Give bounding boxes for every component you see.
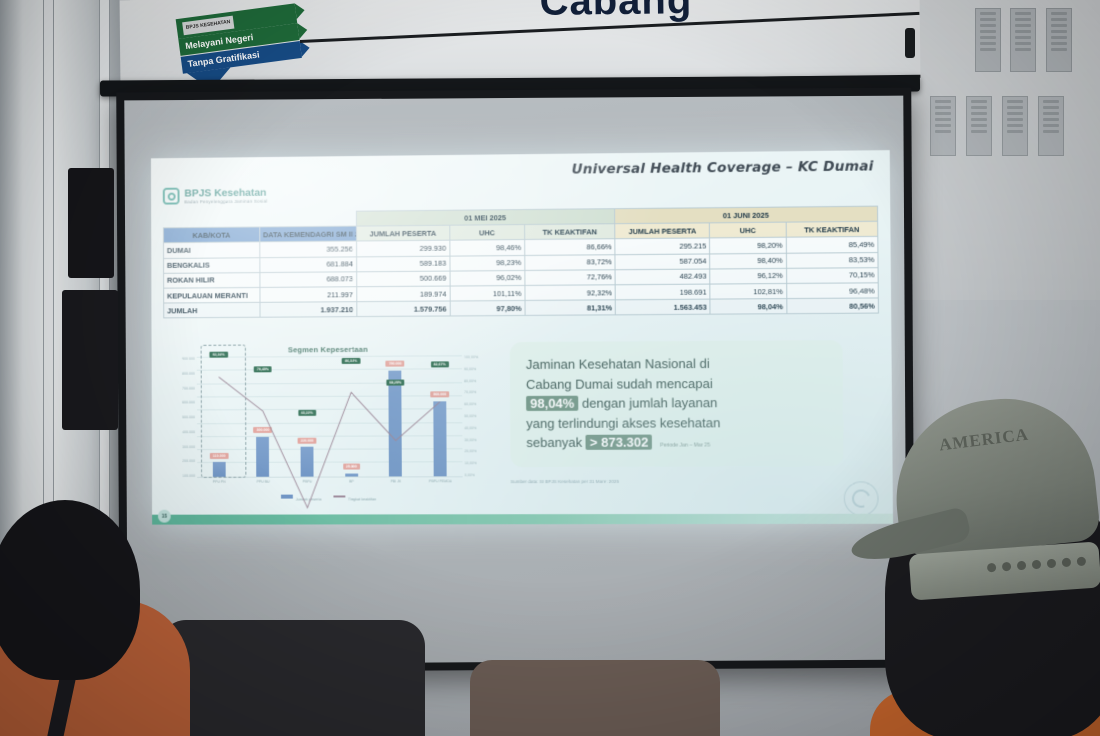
cell-juni-keaktifan: 85,49% bbox=[786, 237, 878, 253]
y-tick: 400.000 bbox=[182, 430, 195, 434]
y-tick: 500.000 bbox=[182, 415, 195, 419]
callout-line-5-wrap: sebanyak > 873.302 Periode Jan – Mar 25 bbox=[526, 432, 827, 457]
y-tick: 900.000 bbox=[182, 357, 195, 361]
cell-mei-keaktifan: 92,32% bbox=[525, 285, 616, 301]
blank-cell-1 bbox=[163, 212, 259, 228]
cell-kemendagri: 681.884 bbox=[260, 256, 357, 272]
cell-juni-peserta: 482.493 bbox=[615, 269, 710, 285]
col-header-mei-peserta: JUMLAH PESERTA bbox=[356, 225, 449, 241]
cell-kemendagri: 355.256 bbox=[260, 241, 357, 257]
cell-mei-keaktifan: 86,66% bbox=[525, 239, 616, 255]
callout-period-note: Periode Jan – Mar 25 bbox=[660, 442, 710, 448]
callout-highlight-percent: 98,04% bbox=[526, 396, 578, 411]
callout-line-1: Jaminan Kesehatan Nasional di bbox=[526, 353, 827, 374]
callout-line-2: Cabang Dumai sudah mencapai bbox=[526, 373, 827, 394]
y-tick-right: 90,00% bbox=[464, 367, 476, 371]
cell-mei-peserta: 1.579.756 bbox=[356, 301, 450, 317]
y-tick-right: 80,00% bbox=[464, 379, 476, 383]
bpjs-mark-icon bbox=[163, 188, 180, 205]
cell-kab-kota: DUMAI bbox=[163, 242, 259, 258]
line-value-label: 79,45% bbox=[254, 367, 272, 373]
cell-kab-kota: JUMLAH bbox=[164, 302, 260, 318]
chart-line-series bbox=[197, 355, 464, 623]
cell-mei-peserta: 189.974 bbox=[356, 286, 450, 302]
bpjs-logo-tagline: Badan Penyelenggara Jaminan Sosial bbox=[184, 198, 267, 204]
callout-highlight-count: > 873.302 bbox=[586, 435, 653, 450]
bpjs-logo: BPJS Kesehatan Badan Penyelenggara Jamin… bbox=[163, 187, 268, 205]
cell-mei-uhc: 98,23% bbox=[450, 255, 525, 271]
wall-vent-1 bbox=[975, 8, 1001, 72]
cell-mei-uhc: 101,11% bbox=[450, 285, 525, 301]
y-tick-right: 40,00% bbox=[464, 426, 476, 430]
line-value-label: 82,67% bbox=[431, 362, 449, 368]
cell-mei-peserta: 500.669 bbox=[356, 271, 449, 287]
cell-juni-peserta: 587.054 bbox=[615, 253, 710, 269]
cell-juni-peserta: 1.563.453 bbox=[616, 299, 711, 315]
uhc-table-body: DUMAI 355.256 299.930 98,46% 86,66% 295.… bbox=[163, 237, 878, 318]
wall-vent-2 bbox=[1010, 8, 1036, 72]
cell-juni-keaktifan: 80,56% bbox=[786, 298, 878, 314]
cell-juni-uhc: 98,40% bbox=[710, 253, 786, 269]
y-tick-right: 10,00% bbox=[465, 461, 477, 465]
slide-source-note: Sumber data: SI BPJS Kesehatan per 31 Ma… bbox=[511, 479, 619, 484]
slide-watermark-icon bbox=[844, 481, 879, 515]
cell-juni-peserta: 295.215 bbox=[615, 238, 710, 254]
col-header-kemendagri: DATA KEMENDAGRI SM II 2024 bbox=[260, 226, 357, 242]
cell-mei-peserta: 589.183 bbox=[356, 256, 449, 272]
banner-title: Cabang bbox=[539, 0, 692, 25]
blank-cell-2 bbox=[259, 211, 356, 227]
cell-kemendagri: 688.073 bbox=[260, 272, 357, 288]
photo-of-projected-slide: Cabang BPJS KESEHATAN Melayani Negeri Ta… bbox=[0, 0, 1100, 736]
y-tick: 200.000 bbox=[182, 459, 195, 463]
cell-kab-kota: BENGKALIS bbox=[164, 257, 260, 273]
cell-juni-keaktifan: 83,53% bbox=[786, 252, 878, 268]
y-tick: 700.000 bbox=[182, 386, 195, 390]
cell-juni-keaktifan: 96,48% bbox=[786, 283, 878, 299]
line-value-label: 86,34% bbox=[342, 358, 360, 364]
y-tick-right: 20,00% bbox=[464, 450, 476, 454]
col-header-kab-kota: KAB/KOTA bbox=[163, 227, 259, 243]
cell-juni-uhc: 96,12% bbox=[710, 268, 786, 284]
y-tick-right: 0,00% bbox=[465, 473, 475, 477]
window-mullion bbox=[44, 0, 53, 660]
cell-mei-uhc: 96,02% bbox=[450, 270, 525, 286]
wall-vent-3 bbox=[1046, 8, 1072, 72]
callout-line-3-wrap: 98,04% dengan jumlah layanan bbox=[526, 393, 827, 414]
cell-juni-uhc: 102,81% bbox=[710, 283, 786, 299]
presentation-slide: Universal Health Coverage – KC Dumai BPJ… bbox=[151, 150, 893, 525]
cell-juni-peserta: 198.691 bbox=[615, 284, 710, 300]
col-header-juni-keaktifan: TK KEAKTIFAN bbox=[786, 221, 878, 237]
chart-y-axis-right: 100,00% 90,00% 80,00% 70,00% 60,00% 50,0… bbox=[464, 355, 495, 477]
col-header-juni-peserta: JUMLAH PESERTA bbox=[615, 223, 710, 239]
y-tick-right: 70,00% bbox=[464, 391, 476, 395]
cell-mei-uhc: 98,46% bbox=[450, 240, 525, 256]
chart-y-axis-left: 900.000 800.000 700.000 600.000 500.000 … bbox=[165, 357, 195, 478]
cell-kemendagri: 211.997 bbox=[260, 287, 357, 303]
y-tick: 800.000 bbox=[182, 371, 195, 375]
line-value-label: 68,25% bbox=[386, 379, 404, 385]
callout-line-3: dengan jumlah layanan bbox=[582, 395, 718, 411]
event-backdrop-banner: Cabang BPJS KESEHATAN Melayani Negeri Ta… bbox=[120, 0, 921, 86]
wall-vent-7 bbox=[1038, 96, 1064, 156]
callout-line-4: yang terlindungi akses kesehatan bbox=[526, 412, 827, 433]
cell-mei-uhc: 97,80% bbox=[450, 301, 525, 317]
wall-vent-5 bbox=[966, 96, 992, 156]
cell-kab-kota: KEPULAUAN MERANTI bbox=[164, 287, 260, 303]
window-frame bbox=[0, 0, 130, 660]
y-tick-right: 100,00% bbox=[464, 355, 478, 359]
col-header-mei-keaktifan: TK KEAKTIFAN bbox=[525, 224, 616, 240]
projector-screen-surface: Universal Health Coverage – KC Dumai BPJ… bbox=[124, 96, 906, 665]
uhc-table-wrapper: 01 MEI 2025 01 JUNI 2025 KAB/KOTA DATA K… bbox=[163, 206, 879, 319]
uhc-table: 01 MEI 2025 01 JUNI 2025 KAB/KOTA DATA K… bbox=[163, 206, 879, 319]
col-header-juni-uhc: UHC bbox=[710, 222, 786, 238]
cell-kemendagri: 1.937.210 bbox=[260, 302, 357, 318]
col-header-mei-uhc: UHC bbox=[450, 225, 525, 241]
y-tick: 600.000 bbox=[182, 401, 195, 405]
cell-mei-keaktifan: 83,72% bbox=[525, 254, 616, 270]
chart-plot-area: 900.000 800.000 700.000 600.000 500.000 … bbox=[197, 355, 463, 478]
y-tick-right: 50,00% bbox=[464, 414, 476, 418]
wall-vent-6 bbox=[1002, 96, 1028, 156]
window-mullion-2 bbox=[100, 0, 109, 660]
cell-mei-peserta: 299.930 bbox=[356, 241, 449, 257]
wall-vent-4 bbox=[930, 96, 956, 156]
projector-screen-hook bbox=[905, 28, 915, 58]
y-tick: 100.000 bbox=[182, 474, 195, 478]
cell-kab-kota: ROKAN HILIR bbox=[164, 272, 260, 288]
y-tick: 300.000 bbox=[182, 445, 195, 449]
cell-juni-uhc: 98,04% bbox=[710, 299, 786, 315]
uhc-callout-panel: Jaminan Kesehatan Nasional di Cabang Dum… bbox=[510, 340, 844, 467]
y-tick-right: 60,00% bbox=[464, 402, 476, 406]
slide-number-badge: 15 bbox=[158, 510, 171, 523]
bpjs-logo-name: BPJS Kesehatan bbox=[184, 187, 267, 199]
cell-juni-uhc: 98,20% bbox=[710, 238, 786, 254]
segmen-kepesertaan-chart: Segmen Kepesertaan 900.000 800 bbox=[165, 344, 492, 510]
callout-line-5: sebanyak bbox=[526, 435, 582, 450]
line-value-label: 92,34% bbox=[210, 351, 228, 357]
slide-title: Universal Health Coverage – KC Dumai bbox=[572, 158, 874, 177]
cell-juni-keaktifan: 70,15% bbox=[786, 267, 878, 283]
cell-mei-keaktifan: 81,31% bbox=[525, 300, 616, 316]
cell-mei-keaktifan: 72,76% bbox=[525, 269, 616, 285]
line-value-label: 43,22% bbox=[298, 410, 316, 416]
projector-screen-frame: Universal Health Coverage – KC Dumai BPJ… bbox=[116, 88, 915, 673]
y-tick-right: 30,00% bbox=[464, 438, 476, 442]
